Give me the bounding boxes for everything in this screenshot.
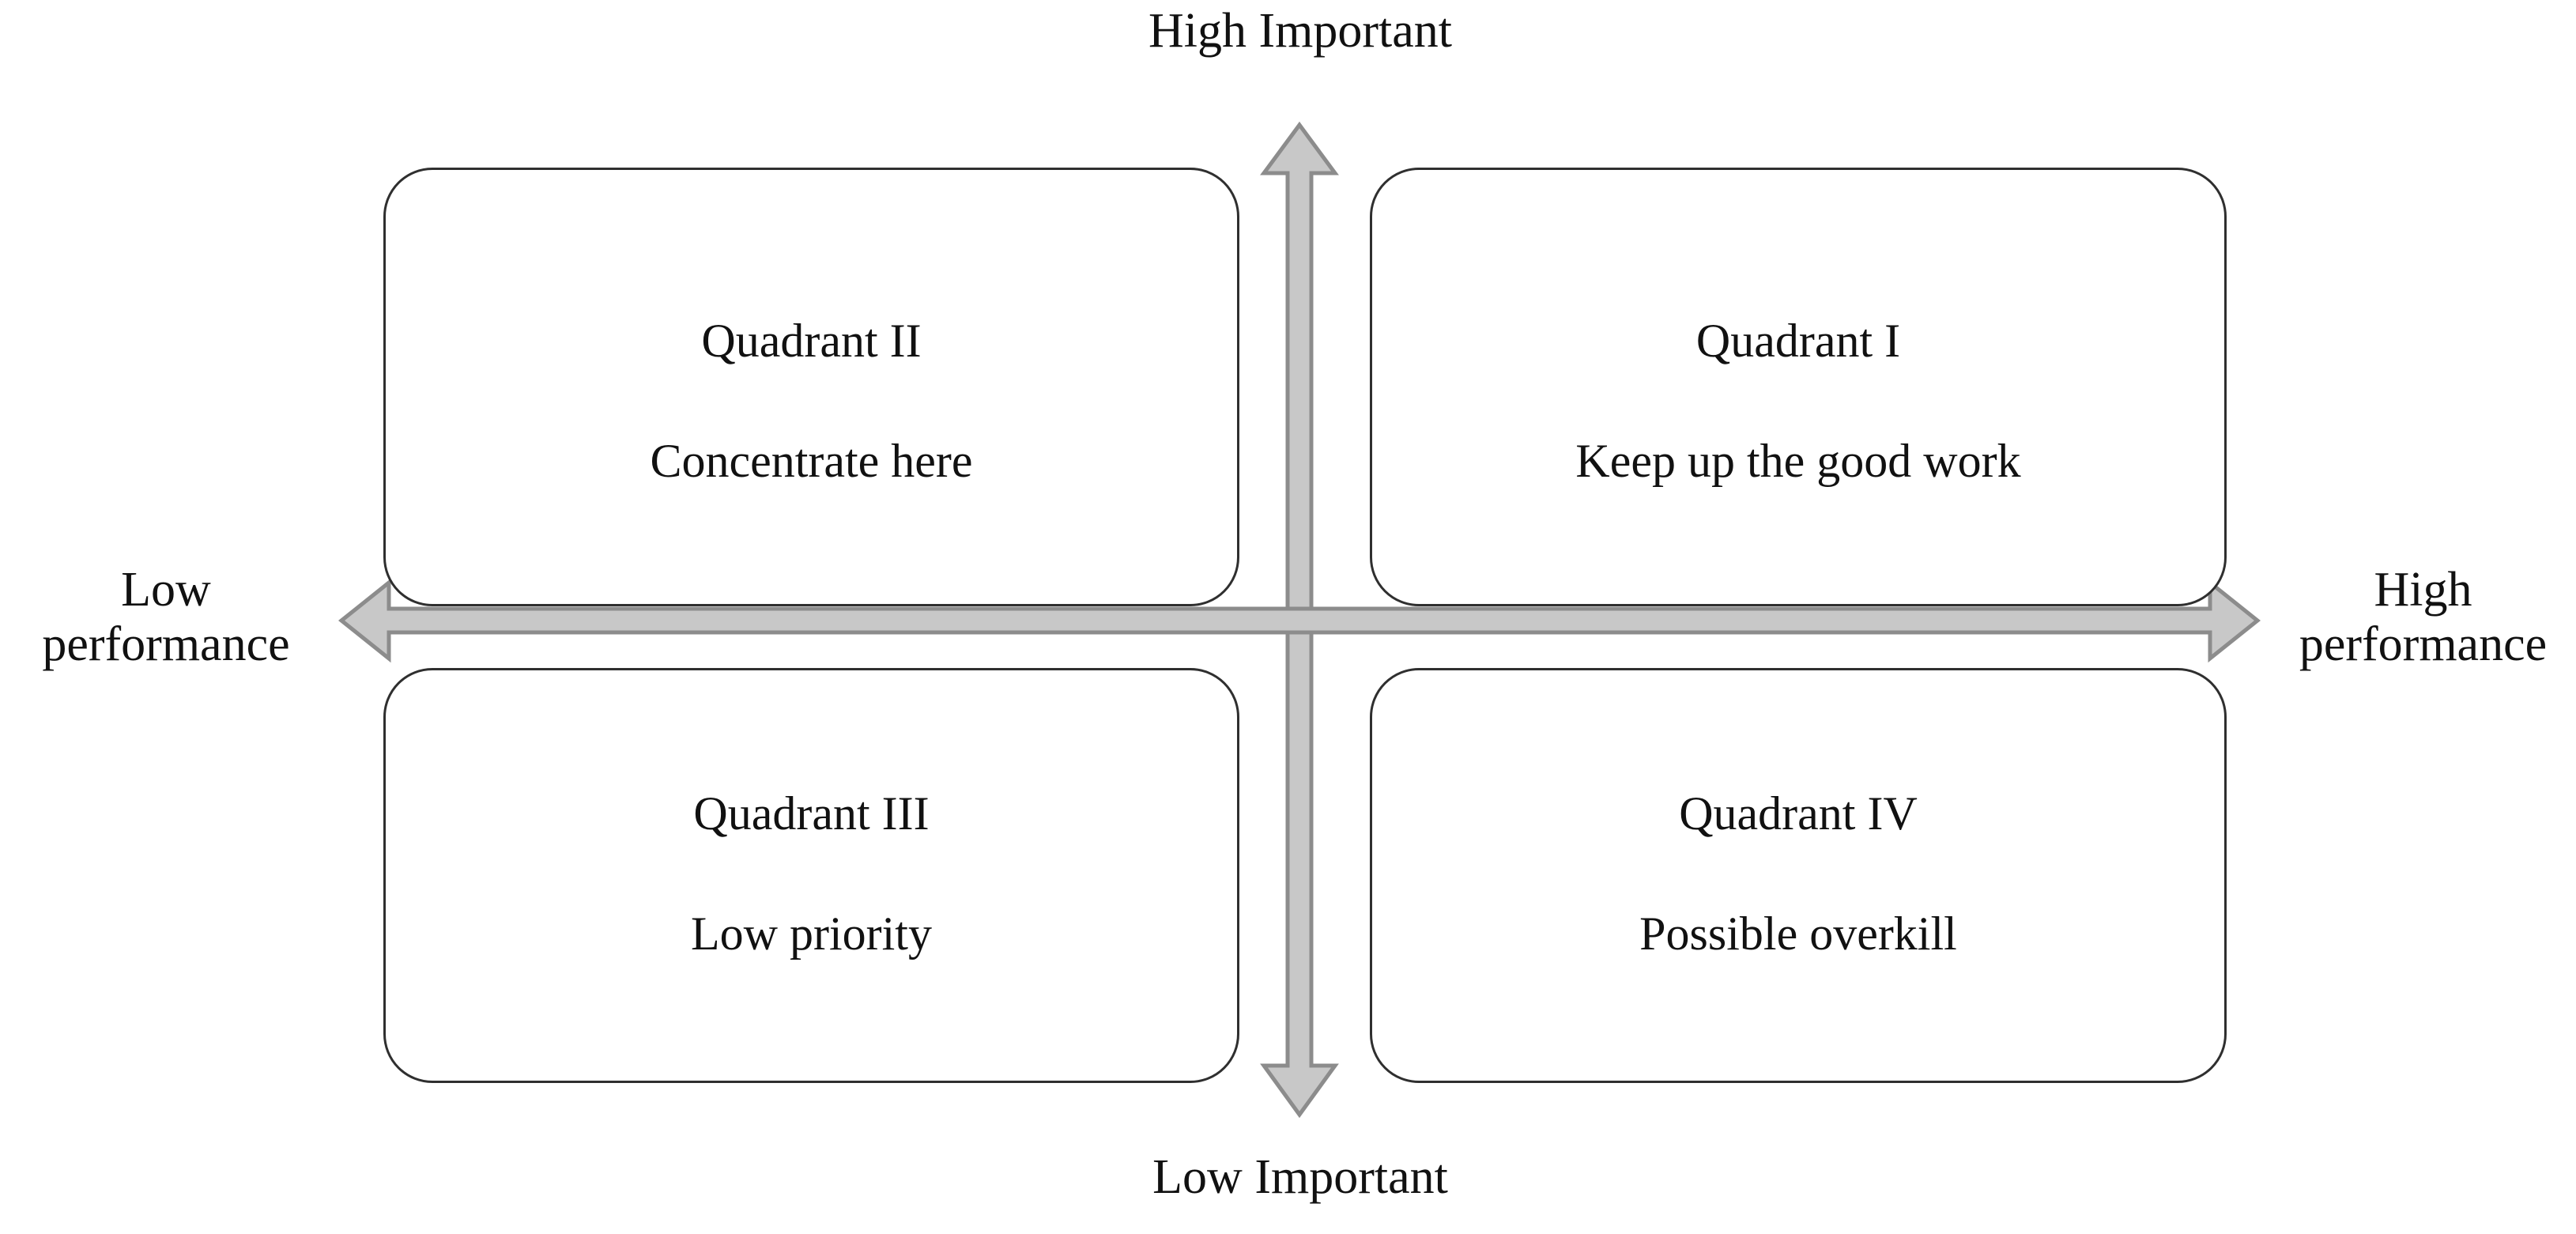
quadrant-title: Quadrant II — [701, 317, 921, 364]
axis-label-line: High — [2270, 563, 2576, 617]
axis-label-line: Low — [0, 563, 332, 617]
axis-label-line: performance — [0, 617, 332, 672]
axis-label-line: performance — [2270, 617, 2576, 672]
quadrant-box-bottom-right[interactable]: Quadrant IV Possible overkill — [1370, 668, 2227, 1083]
axis-label-high-performance: High performance — [2270, 563, 2576, 673]
quadrant-box-top-right[interactable]: Quadrant I Keep up the good work — [1370, 168, 2227, 606]
ipa-matrix-diagram: Quadrant II Concentrate here Quadrant I … — [0, 0, 2576, 1234]
quadrant-description: Possible overkill — [1639, 910, 1957, 957]
quadrant-description: Low priority — [691, 910, 932, 957]
axis-label-line: Low Important — [937, 1150, 1664, 1205]
quadrant-title: Quadrant III — [693, 790, 929, 837]
quadrant-box-top-left[interactable]: Quadrant II Concentrate here — [383, 168, 1239, 606]
axis-label-high-important: High Important — [937, 4, 1664, 58]
quadrant-title: Quadrant IV — [1679, 790, 1918, 837]
quadrant-description: Concentrate here — [650, 437, 972, 485]
quadrant-title: Quadrant I — [1696, 317, 1900, 364]
axis-label-line: High Important — [937, 4, 1664, 58]
axis-label-low-important: Low Important — [937, 1150, 1664, 1205]
axis-label-low-performance: Low performance — [0, 563, 332, 673]
quadrant-box-bottom-left[interactable]: Quadrant III Low priority — [383, 668, 1239, 1083]
quadrant-description: Keep up the good work — [1575, 437, 2020, 485]
